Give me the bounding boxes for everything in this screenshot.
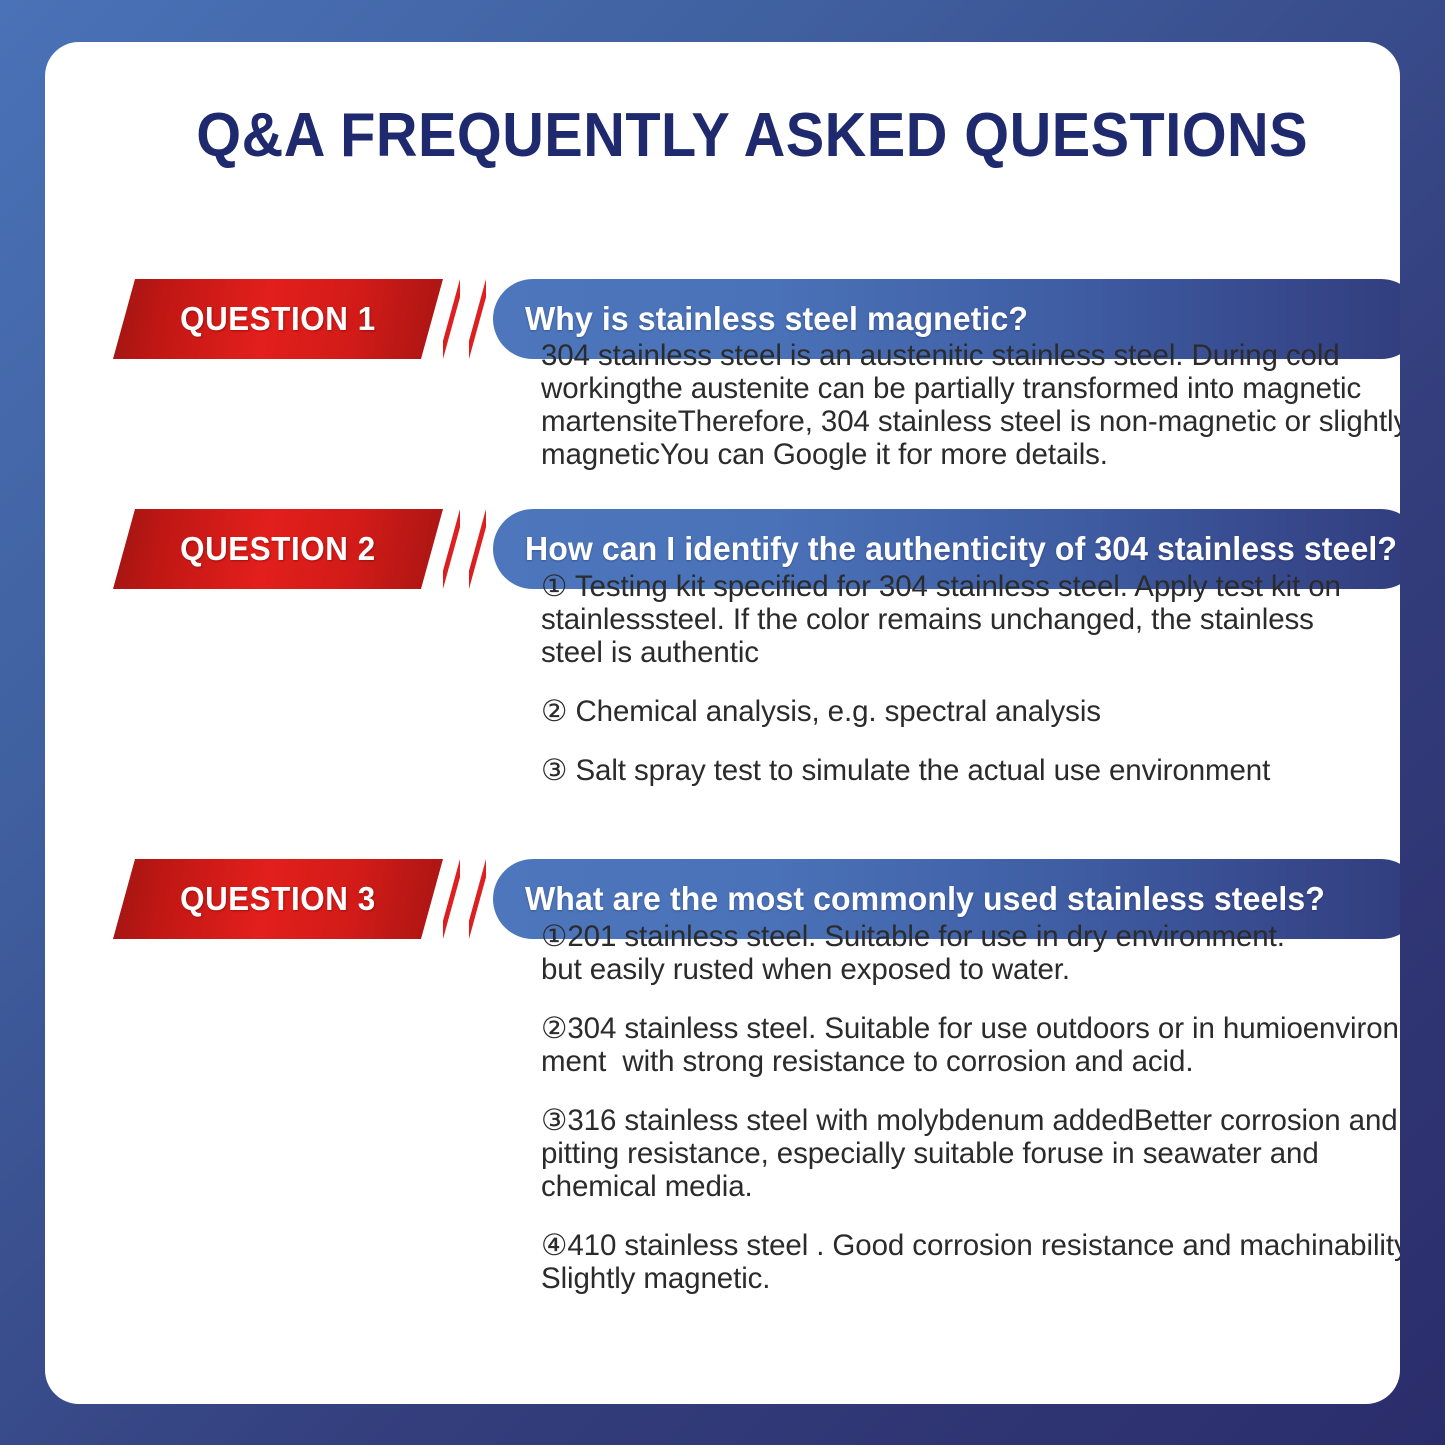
answer-paragraph: 304 stainless steel is an austenitic sta… <box>541 339 1400 471</box>
answer-paragraph: ①201 stainless steel. Suitable for use i… <box>541 920 1400 986</box>
answer-paragraph: ② Chemical analysis, e.g. spectral analy… <box>541 695 1346 728</box>
answer-block-2: ① Testing kit specified for 304 stainles… <box>541 570 1346 787</box>
slash-decoration-icon <box>443 509 460 589</box>
answer-block-3: ①201 stainless steel. Suitable for use i… <box>541 920 1400 1295</box>
slash-decoration-icon <box>443 279 460 359</box>
answer-block-1: 304 stainless steel is an austenitic sta… <box>541 339 1400 471</box>
slash-decoration-icon <box>469 279 486 359</box>
answer-paragraph: ① Testing kit specified for 304 stainles… <box>541 570 1346 669</box>
answer-paragraph: ③ Salt spray test to simulate the actual… <box>541 754 1346 787</box>
content-card: Q&A FREQUENTLY ASKED QUESTIONS QUESTION … <box>45 42 1400 1404</box>
question-badge-1: QUESTION 1 <box>113 279 443 359</box>
slash-decoration-icon <box>469 859 486 939</box>
question-text-2: How can I identify the authenticity of 3… <box>525 530 1397 568</box>
slash-decoration-icon <box>443 859 460 939</box>
question-text-3: What are the most commonly used stainles… <box>525 880 1325 918</box>
answer-paragraph: ②304 stainless steel. Suitable for use o… <box>541 1012 1400 1078</box>
question-badge-3: QUESTION 3 <box>113 859 443 939</box>
faq-infographic: Q&A FREQUENTLY ASKED QUESTIONS QUESTION … <box>0 0 1445 1445</box>
question-badge-label-3: QUESTION 3 <box>180 880 376 918</box>
page-title: Q&A FREQUENTLY ASKED QUESTIONS <box>196 100 1293 171</box>
slash-decoration-icon <box>469 509 486 589</box>
question-text-1: Why is stainless steel magnetic? <box>525 300 1028 338</box>
question-badge-label-1: QUESTION 1 <box>180 300 376 338</box>
answer-paragraph: ③316 stainless steel with molybdenum add… <box>541 1104 1400 1203</box>
question-badge-label-2: QUESTION 2 <box>180 530 376 568</box>
question-badge-2: QUESTION 2 <box>113 509 443 589</box>
answer-paragraph: ④410 stainless steel . Good corrosion re… <box>541 1229 1400 1295</box>
